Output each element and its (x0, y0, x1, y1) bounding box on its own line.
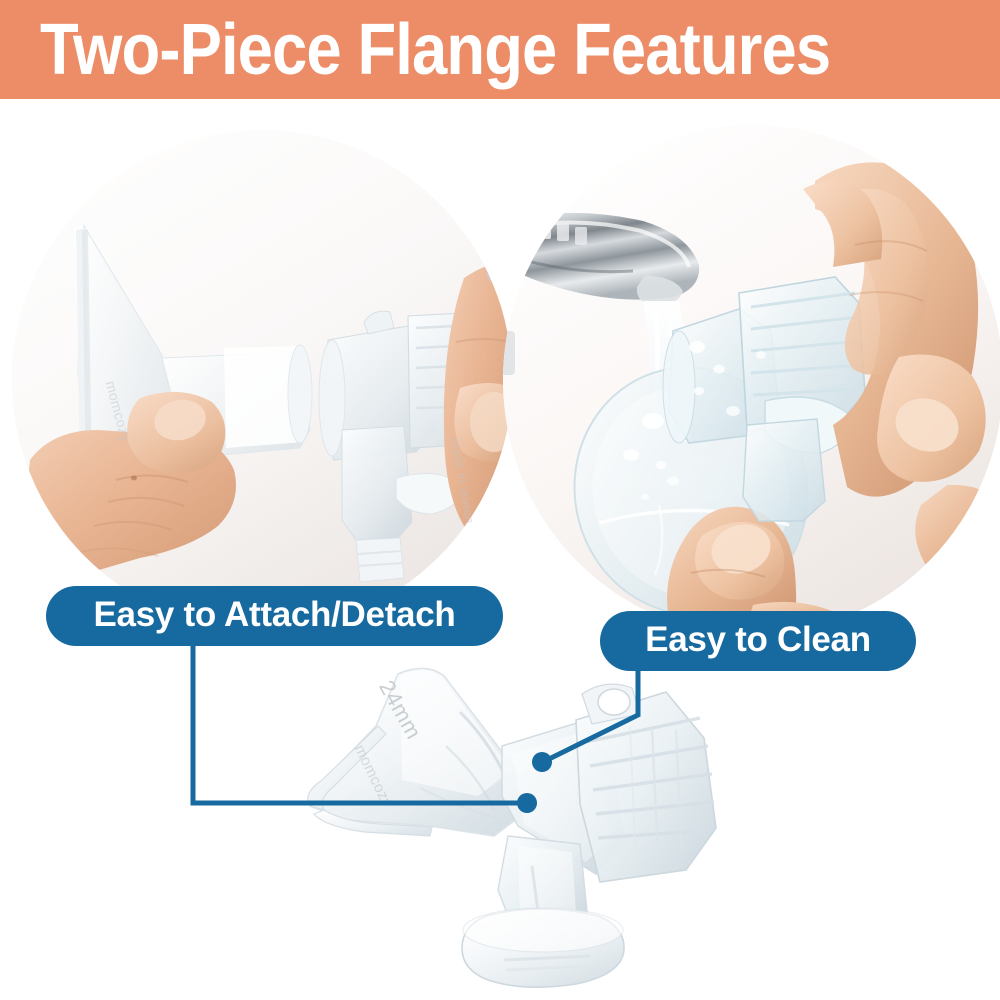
attach-detach-illustration (12, 130, 512, 630)
hero-product-image (280, 630, 730, 1000)
flange-cone (308, 668, 526, 836)
feature-photo-clean (503, 125, 1000, 635)
feature-label-attach-detach: Easy to Attach/Detach (46, 586, 503, 646)
infographic-page: Two-Piece Flange Features (0, 0, 1000, 1000)
clean-illustration (503, 125, 1000, 635)
feature-photo-attach-detach (12, 130, 512, 630)
assembled-flange-illustration (280, 630, 730, 1000)
header-banner: Two-Piece Flange Features (0, 0, 1000, 99)
page-title: Two-Piece Flange Features (40, 11, 830, 89)
connector-collar (576, 684, 716, 882)
feature-label-clean: Easy to Clean (600, 611, 916, 671)
